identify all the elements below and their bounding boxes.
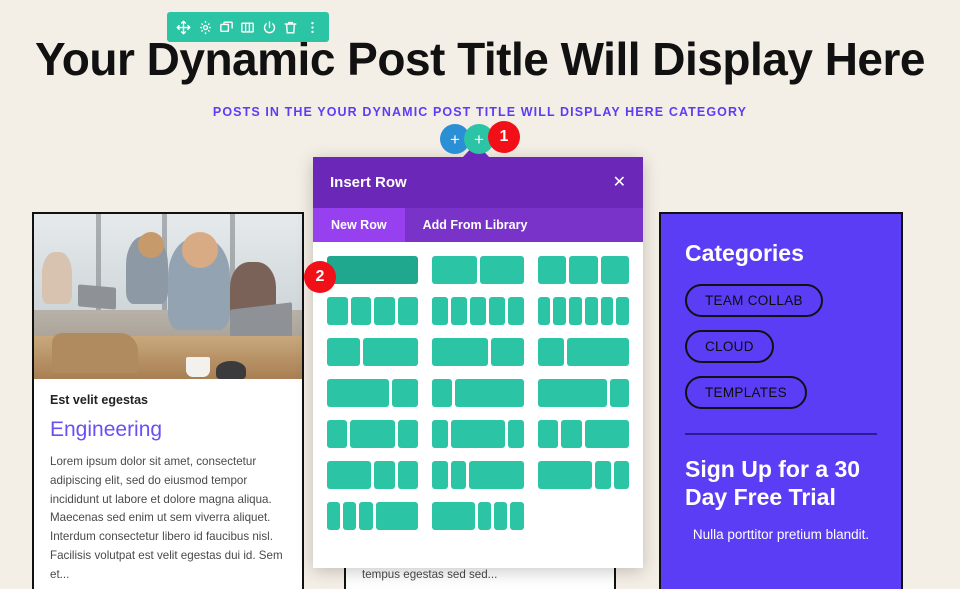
row-layout-1-column[interactable] [327,256,418,284]
layout-column [350,420,394,448]
layout-column [327,256,418,284]
layout-column [432,338,488,366]
layout-column [451,461,466,489]
layout-column [480,256,524,284]
layout-column [585,420,629,448]
row-layout-2-3-1-3[interactable] [432,338,523,366]
layout-column [601,297,614,325]
post-excerpt: Lorem ipsum dolor sit amet, consectetur … [50,453,286,584]
layout-column [327,379,389,407]
sidebar-divider [685,433,877,435]
row-layout-1-3-2-3[interactable] [327,338,418,366]
row-layout-1-5-1-5-3-5[interactable] [432,461,523,489]
layout-column [376,502,419,530]
layout-column [470,297,486,325]
move-icon[interactable] [175,18,193,36]
layout-column [585,297,598,325]
layout-column [327,338,360,366]
row-layout-6-column-equal[interactable] [538,297,629,325]
post-meta: Est velit egestas [50,393,286,407]
layout-column [343,502,356,530]
layout-column [614,461,629,489]
category-pill-cloud[interactable]: CLOUD [685,330,774,363]
layout-column [489,297,505,325]
tab-new-row[interactable]: New Row [313,208,405,242]
layout-column [359,502,372,530]
layout-column [567,338,629,366]
divi-builder-canvas: Your Dynamic Post Title Will Display Her… [0,0,960,589]
layout-column [538,379,607,407]
layout-column [432,502,475,530]
row-layout-4-5-1-5[interactable] [538,379,629,407]
layout-column [538,297,551,325]
layout-column [398,420,418,448]
columns-icon[interactable] [239,18,257,36]
post-card[interactable]: Est velit egestas Engineering Lorem ipsu… [32,212,304,589]
layout-column [398,297,419,325]
page-title: Your Dynamic Post Title Will Display Her… [0,34,960,85]
layout-column [595,461,610,489]
layout-column [374,461,394,489]
row-layout-1-4-3-4[interactable] [538,338,629,366]
layout-column [327,420,347,448]
cta-subtitle: Nulla porttitor pretium blandit. [685,525,877,545]
layout-column [553,297,566,325]
layout-column [432,297,448,325]
layout-column [432,420,447,448]
layout-column [351,297,372,325]
layout-column [374,297,395,325]
row-layout-3-4-1-4[interactable] [327,379,418,407]
layout-column [455,379,524,407]
duplicate-icon[interactable] [218,18,236,36]
layout-column [327,502,340,530]
row-layout-1-4-1-4-1-2[interactable] [538,420,629,448]
layout-column [610,379,629,407]
category-pill-team-collab[interactable]: TEAM COLLAB [685,284,823,317]
close-icon[interactable]: ✕ [613,175,626,191]
row-layout-1-2-1-6-1-6-1-6[interactable] [432,502,523,530]
layout-column [508,297,524,325]
layout-column [432,256,476,284]
layout-column [616,297,629,325]
layout-column [451,420,506,448]
layout-column [327,297,348,325]
cta-title: Sign Up for a 30 Day Free Trial [685,455,877,511]
categories-widget-title: Categories [685,240,877,267]
layout-column [469,461,524,489]
modal-title: Insert Row [330,174,407,191]
gear-icon[interactable] [196,18,214,36]
row-layout-grid[interactable] [313,242,643,543]
row-layout-3-5-1-5-1-5[interactable] [538,461,629,489]
layout-column [491,338,524,366]
tab-add-from-library[interactable]: Add From Library [405,208,546,242]
layout-column [561,420,581,448]
category-pill-templates[interactable]: TEMPLATES [685,376,807,409]
layout-column [601,256,629,284]
layout-column [432,379,451,407]
row-layout-2-column-equal[interactable] [432,256,523,284]
post-headline[interactable]: Engineering [50,418,286,442]
trash-icon[interactable] [282,18,300,36]
row-layout-1-4-1-2-1-4[interactable] [327,420,418,448]
layout-column [432,461,447,489]
power-icon[interactable] [260,18,278,36]
layout-column [327,461,371,489]
step-badge-1: 1 [488,121,520,153]
layout-column [478,502,491,530]
layout-column [510,502,523,530]
layout-column [494,502,507,530]
layout-column [451,297,467,325]
row-layout-5-column-equal[interactable] [432,297,523,325]
layout-column [538,256,566,284]
post-excerpt-tail: tempus egestas sed sed... [362,568,497,581]
layout-column [363,338,419,366]
layout-column [392,379,419,407]
post-thumbnail-image [34,214,302,379]
row-layout-1-6-1-6-1-6-1-2[interactable] [327,502,418,530]
layout-column [538,420,558,448]
row-layout-4-column-equal[interactable] [327,297,418,325]
more-options-icon[interactable] [303,18,321,36]
row-layout-1-5-3-5-1-5[interactable] [432,420,523,448]
layout-column [398,461,418,489]
step-badge-2: 2 [304,261,336,293]
layout-column [538,461,593,489]
row-layout-1-2-1-4-1-4[interactable] [327,461,418,489]
sidebar: Categories TEAM COLLAB CLOUD TEMPLATES S… [659,212,903,589]
modal-tabs[interactable]: New Row Add From Library [313,208,643,242]
layout-column [538,338,565,366]
modal-header: Insert Row ✕ [313,157,643,208]
row-layout-1-5-4-5[interactable] [432,379,523,407]
layout-column [508,420,523,448]
category-subtitle: POSTS IN THE YOUR DYNAMIC POST TITLE WIL… [0,105,960,119]
module-toolbar[interactable] [167,12,329,42]
insert-row-modal: Insert Row ✕ New Row Add From Library [313,157,643,568]
layout-column [569,297,582,325]
layout-column [569,256,597,284]
row-layout-3-column-equal[interactable] [538,256,629,284]
